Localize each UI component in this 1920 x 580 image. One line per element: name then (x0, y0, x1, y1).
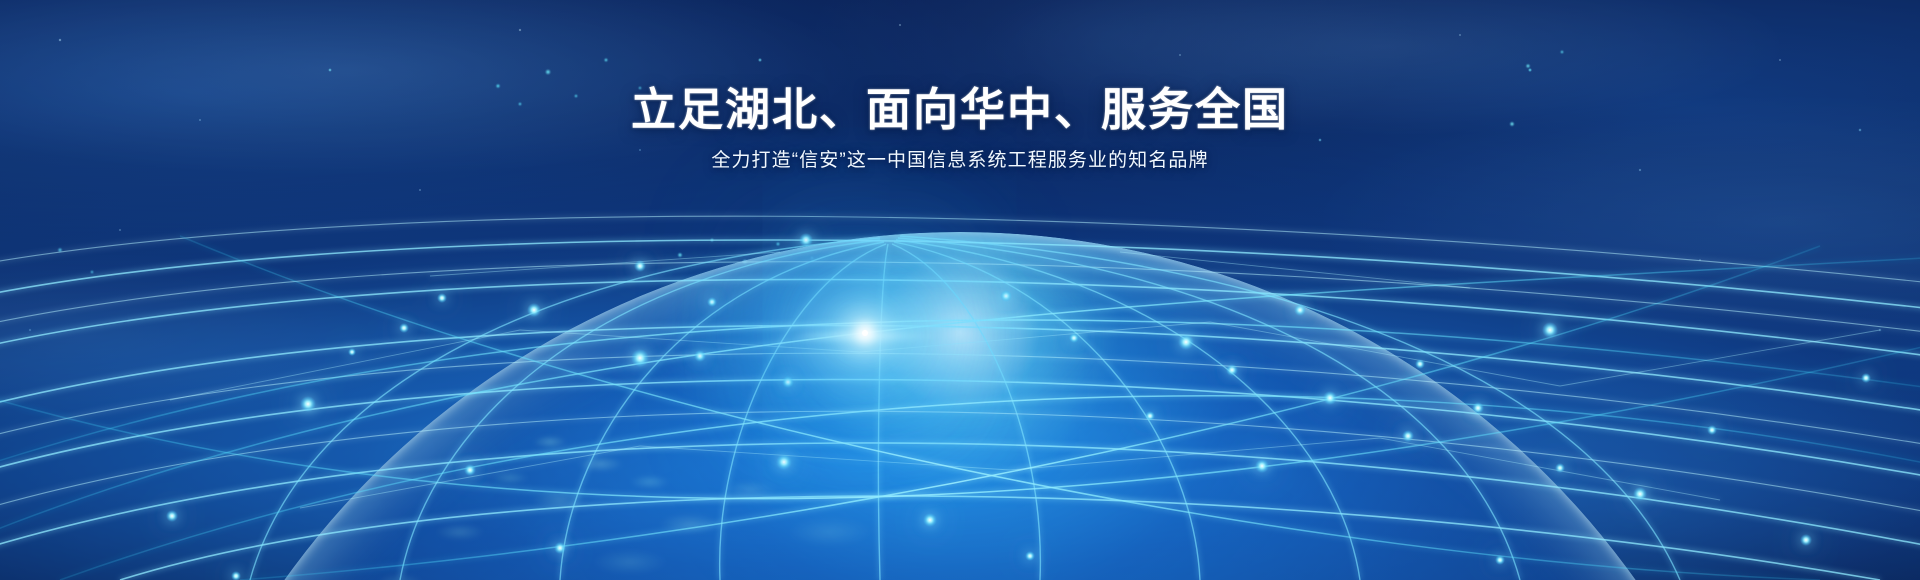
banner-headline: 立足湖北、面向华中、服务全国 (0, 86, 1920, 135)
banner-copy: 立足湖北、面向华中、服务全国 全力打造“信安”这一中国信息系统工程服务业的知名品… (0, 86, 1920, 173)
center-flare-core (862, 330, 868, 336)
hero-banner: 立足湖北、面向华中、服务全国 全力打造“信安”这一中国信息系统工程服务业的知名品… (0, 0, 1920, 580)
banner-subline: 全力打造“信安”这一中国信息系统工程服务业的知名品牌 (0, 149, 1920, 174)
